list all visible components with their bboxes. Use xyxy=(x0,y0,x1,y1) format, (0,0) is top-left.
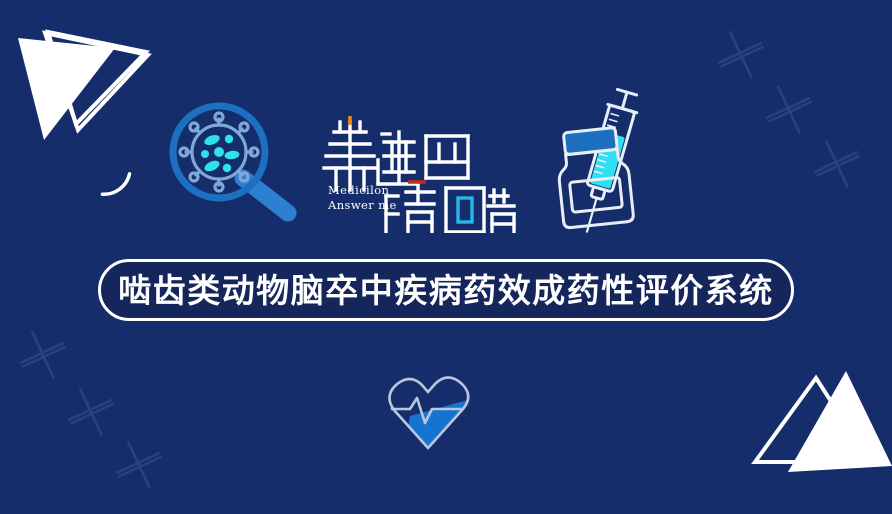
logo-english-line2: Answer me xyxy=(328,198,397,213)
vial-icon xyxy=(554,126,634,228)
top-left-triangle-group xyxy=(18,33,148,140)
syringe-vial-icon xyxy=(0,0,892,514)
pulse-line xyxy=(392,398,463,423)
logo-accent-cyan xyxy=(458,198,472,222)
magnifier-virus-icon xyxy=(0,0,892,514)
magnifier-handle-icon xyxy=(243,178,288,213)
logo-chinese-characters xyxy=(322,108,522,233)
cross-group-left xyxy=(19,331,162,488)
logo-english-text: Medicilon Answer me xyxy=(328,183,397,213)
heart-fill xyxy=(402,396,482,466)
small-arc-left xyxy=(102,170,129,197)
heart-pulse-icon xyxy=(0,0,892,514)
title-pill: 啮齿类动物脑卒中疾病药效成药性评价系统 xyxy=(98,259,794,321)
syringe-icon xyxy=(572,88,641,237)
medicilon-logo: Medicilon Answer me xyxy=(322,108,522,233)
heart-outline xyxy=(389,378,468,449)
background-decorations xyxy=(0,0,892,514)
logo-english-line1: Medicilon xyxy=(328,183,397,198)
top-left-outline-triangle xyxy=(48,32,146,124)
banner-root: Medicilon Answer me 啮齿类动物脑卒中疾病药效成药性评价系统 xyxy=(0,0,892,514)
virus-body-icon xyxy=(180,113,258,191)
bottom-right-triangle-group xyxy=(755,371,892,472)
magnifier-ring-icon xyxy=(173,106,265,198)
page-title: 啮齿类动物脑卒中疾病药效成药性评价系统 xyxy=(118,274,774,307)
cross-group-right xyxy=(717,31,860,187)
virus-spots-icon xyxy=(201,133,240,173)
